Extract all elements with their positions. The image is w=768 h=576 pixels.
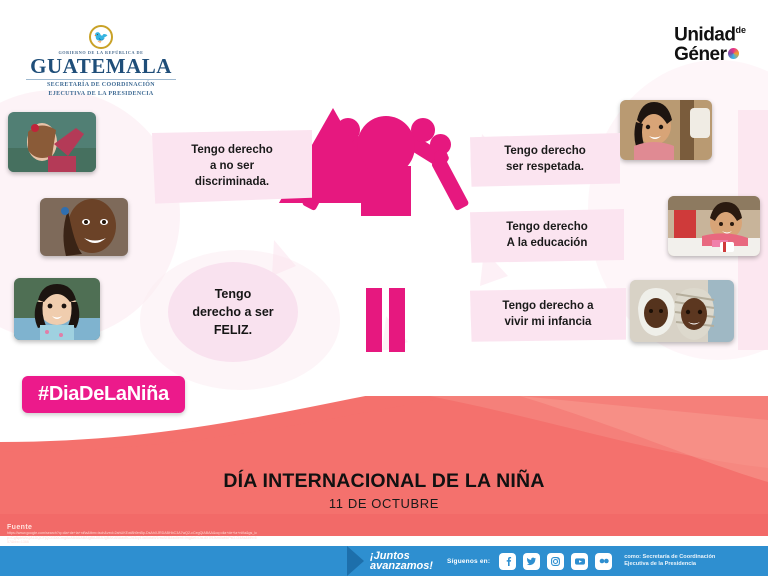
bubble-feliz: Tengo derecho a ser FELIZ. [168,262,298,362]
bubble-respeto: Tengo derecho ser respetada. [470,133,620,187]
photo-right-3 [630,280,734,342]
account-line-2: Ejecutiva de la Presidencia [624,561,696,567]
source-label: Fuente [7,524,257,531]
gov-logo-divider [26,79,176,80]
photo-left-2 [40,198,128,256]
bubble-line: Tengo [192,285,273,303]
bubble-no-discriminacion: Tengo derecho a no ser discriminada. [152,130,312,204]
bubble-line: ser respetada. [479,160,611,176]
instagram-icon[interactable] [547,553,564,570]
bubble-line: FELIZ. [192,321,273,339]
poster-title-block: DÍA INTERNACIONAL DE LA NIÑA 11 DE OCTUB… [0,470,768,511]
footer-account: como: Secretaría de Coordinación Ejecuti… [624,554,715,568]
account-line-1: Secretaría de Coordinación [643,554,716,560]
bubble-line: derecho a ser [192,303,273,321]
gradient-circle-icon [728,48,739,59]
footer-slogan: ¡Juntos avanzamos! [370,551,433,571]
unidad-text: Unidad [674,24,735,45]
twitter-icon[interactable] [523,553,540,570]
gov-logo-subline-1: SECRETARÍA DE COORDINACIÓN [16,81,186,89]
bubble-line: Tengo derecho a [479,299,617,315]
gov-logo-subline-2: EJECUTIVA DE LA PRESIDENCIA [16,90,186,98]
photo-right-1 [620,100,712,160]
photo-left-3 [14,278,100,340]
genero-text: Géner [674,44,726,65]
girl-silhouette-icon [310,108,460,353]
unidad-de-text: de [735,25,746,35]
bubble-line: Tengo derecho [162,143,302,159]
youtube-icon[interactable] [571,553,588,570]
facebook-icon[interactable] [499,553,516,570]
account-label: como: [624,554,641,560]
social-links [499,553,612,570]
poster-canvas: 🐦 GOBIERNO DE LA REPÚBLICA DE GUATEMALA … [0,0,768,576]
source-block: Fuente https://www.google.com/search?q=d… [7,524,257,545]
bubble-line: discriminada. [162,175,302,191]
bubble-line: Tengo derecho [479,220,615,236]
bubble-line: A la educación [479,236,615,252]
bubble-line: Tengo derecho [479,144,611,160]
photo-right-2 [668,196,760,256]
arrow-icon [347,546,364,576]
unidad-genero-line-2: Géner [674,45,746,65]
bubble-educacion: Tengo derecho A la educación [470,209,624,263]
footer-bar: ¡Juntos avanzamos! Síguenos en: como: Se… [0,546,768,576]
slogan-line-2: avanzamos! [370,561,433,571]
page-title: DÍA INTERNACIONAL DE LA NIÑA [0,470,768,493]
bubble-line: a no ser [162,159,302,175]
government-logo: 🐦 GOBIERNO DE LA REPÚBLICA DE GUATEMALA … [16,26,186,98]
coral-wave-band [0,396,768,536]
source-url: https://www.google.com/search?q=dia+de+l… [7,531,257,545]
gov-logo-country: GUATEMALA [16,55,186,77]
bubble-line: vivir mi infancia [479,315,617,331]
follow-label: Síguenos en: [447,558,490,565]
photo-left-1 [8,112,96,172]
quetzal-crest-icon: 🐦 [88,26,114,48]
unidad-genero-logo: Unidadde Géner [674,20,746,65]
flickr-icon[interactable] [595,553,612,570]
unidad-genero-line-1: Unidadde [674,20,746,45]
bubble-infancia: Tengo derecho a vivir mi infancia [470,288,626,342]
page-subtitle-date: 11 DE OCTUBRE [0,496,768,511]
